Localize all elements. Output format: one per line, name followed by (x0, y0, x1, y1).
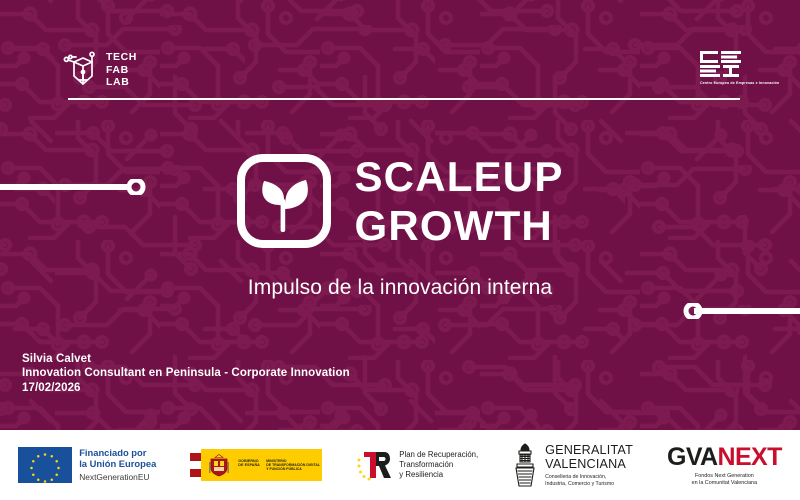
slide-stage: TECH FAB LAB (0, 0, 800, 430)
ministerio-text: MINISTERIO DE TRANSFORMACIÓN DIGITAL Y F… (266, 459, 320, 472)
gva-next-sub-line-2: en la Comunitat Valenciana (692, 480, 758, 487)
header-divider (68, 98, 740, 100)
gva-line-2: VALENCIANA (545, 457, 633, 471)
presentation-slide: TECH FAB LAB (0, 0, 800, 500)
eu-logo-text: Financiado por la Unión Europea NextGene… (79, 447, 156, 483)
gva-logo-text: GENERALITAT VALENCIANA Conselleria de In… (545, 443, 633, 488)
ceei-subtitle: Centro Europeo de Empresas e Innovación (700, 81, 779, 86)
logo-gobierno-de-espana: GOBIERNO DE ESPAÑA MINISTERIO DE TRANSFO… (190, 449, 322, 481)
speaker-info: Silvia Calvet Innovation Consultant en P… (22, 352, 350, 395)
page-subtitle: Impulso de la innovación interna (0, 276, 800, 300)
title-block: SCALEUP GROWTH Impulso de la innovación … (0, 152, 800, 300)
gva-next-word-next: NEXT (718, 443, 782, 471)
conselleria-line-1: Conselleria de Innovación, (545, 474, 633, 481)
min-line-3: Y FUNCIÓN PÚBLICA (266, 467, 320, 471)
logo-plan-recuperacion: Plan de Recuperación, Transformación y R… (356, 448, 478, 482)
gva-line-1: GENERALITAT (545, 443, 633, 457)
generalitat-crest-icon (512, 442, 538, 488)
circuit-trace-right (676, 303, 800, 319)
footer-logo-bar: Financiado por la Unión Europea NextGene… (0, 430, 800, 500)
logo-gva-next: GVANEXT Fondos Next Generation en la Com… (667, 444, 782, 487)
gva-next-wordmark: GVANEXT (667, 444, 782, 470)
spain-coat-of-arms-icon (207, 454, 231, 477)
spain-flag-stripe-icon (190, 449, 201, 481)
tech-fab-lab-logo: TECH FAB LAB (62, 48, 148, 94)
speaker-role: Innovation Consultant en Peninsula - Cor… (22, 366, 350, 380)
gva-next-word-gva: GVA (667, 443, 718, 471)
prtr-line-3: y Resiliencia (399, 470, 478, 480)
gob-line-2: DE ESPAÑA (238, 463, 260, 467)
conselleria-text: Conselleria de Innovación, Industria, Co… (545, 474, 633, 487)
title-line-2: GROWTH (354, 201, 563, 250)
eu-line-2: la Unión Europea (79, 458, 156, 469)
gva-next-subtitle: Fondos Next Generation en la Comunitat V… (692, 473, 758, 487)
ceei-logo: Centro Europeo de Empresas e Innovación (700, 50, 744, 92)
gva-wordmark: GENERALITAT VALENCIANA (545, 443, 633, 471)
tfl-line-tech: TECH (106, 51, 137, 64)
conselleria-line-2: Industria, Comercio y Turismo (545, 481, 633, 488)
eu-line-3: NextGenerationEU (79, 472, 156, 483)
ceei-mark-icon (700, 50, 744, 80)
tfl-line-lab: LAB (106, 76, 137, 89)
sprout-leaf-icon (236, 153, 332, 249)
eu-line-1: Financiado por (79, 447, 156, 458)
prtr-line-1: Plan de Recuperación, (399, 450, 478, 460)
title-row: SCALEUP GROWTH (0, 152, 800, 250)
prtr-tr-icon (356, 448, 392, 482)
title-line-1: SCALEUP (354, 152, 563, 201)
gobierno-text: GOBIERNO DE ESPAÑA (238, 459, 260, 468)
page-title: SCALEUP GROWTH (354, 152, 563, 250)
speaker-name: Silvia Calvet (22, 352, 350, 366)
logo-financiado-union-europea: Financiado por la Unión Europea NextGene… (18, 447, 156, 483)
prtr-line-2: Transformación (399, 460, 478, 470)
gva-next-sub-line-1: Fondos Next Generation (692, 473, 758, 480)
cube-circuit-icon (62, 50, 104, 92)
logo-generalitat-valenciana: GENERALITAT VALENCIANA Conselleria de In… (512, 442, 633, 488)
eu-flag-icon (18, 447, 72, 483)
prtr-logo-text: Plan de Recuperación, Transformación y R… (399, 450, 478, 481)
speaker-date: 17/02/2026 (22, 381, 350, 395)
tech-fab-lab-wordmark: TECH FAB LAB (106, 51, 137, 89)
tfl-line-fab: FAB (106, 64, 137, 77)
